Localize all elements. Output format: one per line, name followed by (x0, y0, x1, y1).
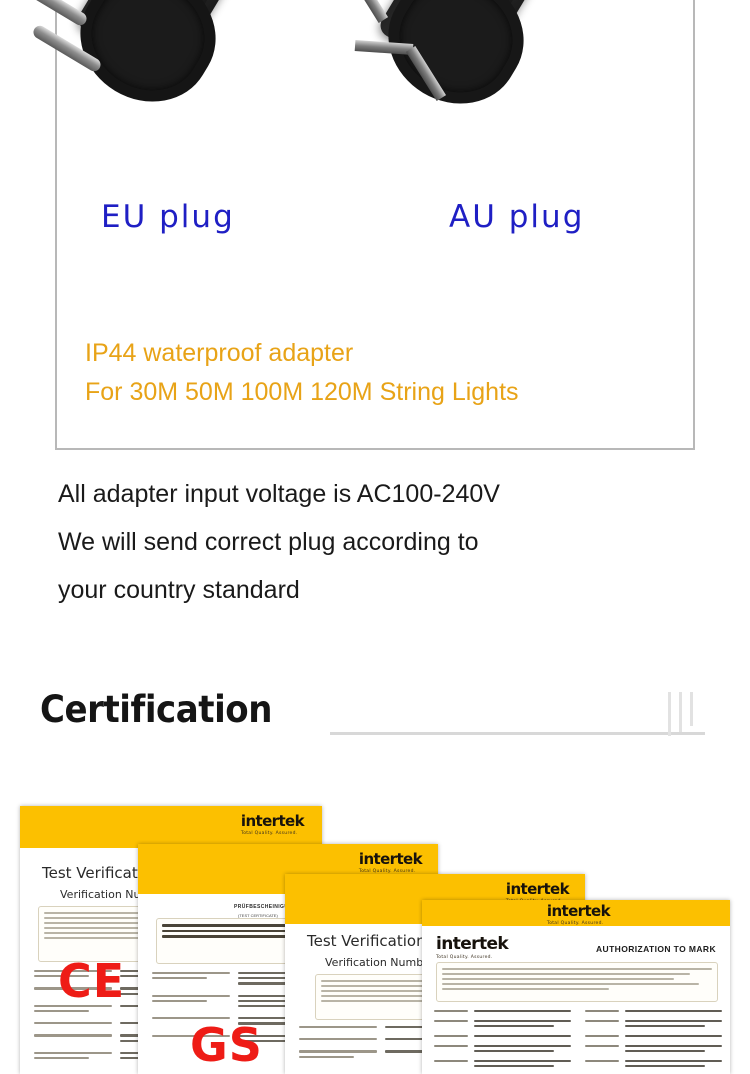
eu-plug-label: EU plug (101, 199, 235, 235)
certificate-title: AUTHORIZATION TO MARK (596, 944, 716, 954)
intertek-logo: intertek Total Quality. Assured. (241, 814, 304, 837)
certificate-fields (434, 1010, 722, 1074)
intertek-logo: intertek Total Quality. Assured. (436, 936, 508, 961)
au-pin (348, 0, 388, 23)
feature-line-1: IP44 waterproof adapter (85, 334, 519, 373)
product-image-panel: EU plug AU plug IP44 waterproof adapter … (55, 0, 695, 450)
feature-line-2: For 30M 50M 100M 120M String Lights (85, 373, 519, 412)
certificate-title: Test Verification (307, 932, 426, 950)
feature-text-block: IP44 waterproof adapter For 30M 50M 100M… (85, 334, 519, 412)
gs-stamp: GS (190, 1022, 263, 1068)
certificate-subtitle: Verification Number (325, 956, 435, 969)
applicant-column (434, 1010, 571, 1074)
certification-header: Certification (0, 688, 750, 750)
plug-photo-stage (57, 0, 693, 294)
section-title: Certification (40, 688, 272, 731)
header-divider (330, 732, 705, 735)
ce-stamp: CE (58, 958, 125, 1004)
description-block: All adapter input voltage is AC100-240V … (58, 470, 718, 614)
au-plug-label: AU plug (449, 199, 584, 235)
manufacturer-column (585, 1010, 722, 1074)
certificate-statement (436, 962, 718, 1002)
eu-pin (17, 0, 89, 28)
description-line-3: your country standard (58, 566, 718, 614)
description-line-1: All adapter input voltage is AC100-240V (58, 470, 718, 518)
certificate-authorization-to-mark[interactable]: intertek Total Quality. Assured. interte… (422, 900, 730, 1074)
description-line-2: We will send correct plug according to (58, 518, 718, 566)
intertek-logo: intertek Total Quality. Assured. (359, 852, 422, 875)
intertek-logo: intertek Total Quality. Assured. (547, 904, 610, 927)
certificate-gallery: intertek Total Quality. Assured. Test Ve… (0, 798, 750, 1073)
